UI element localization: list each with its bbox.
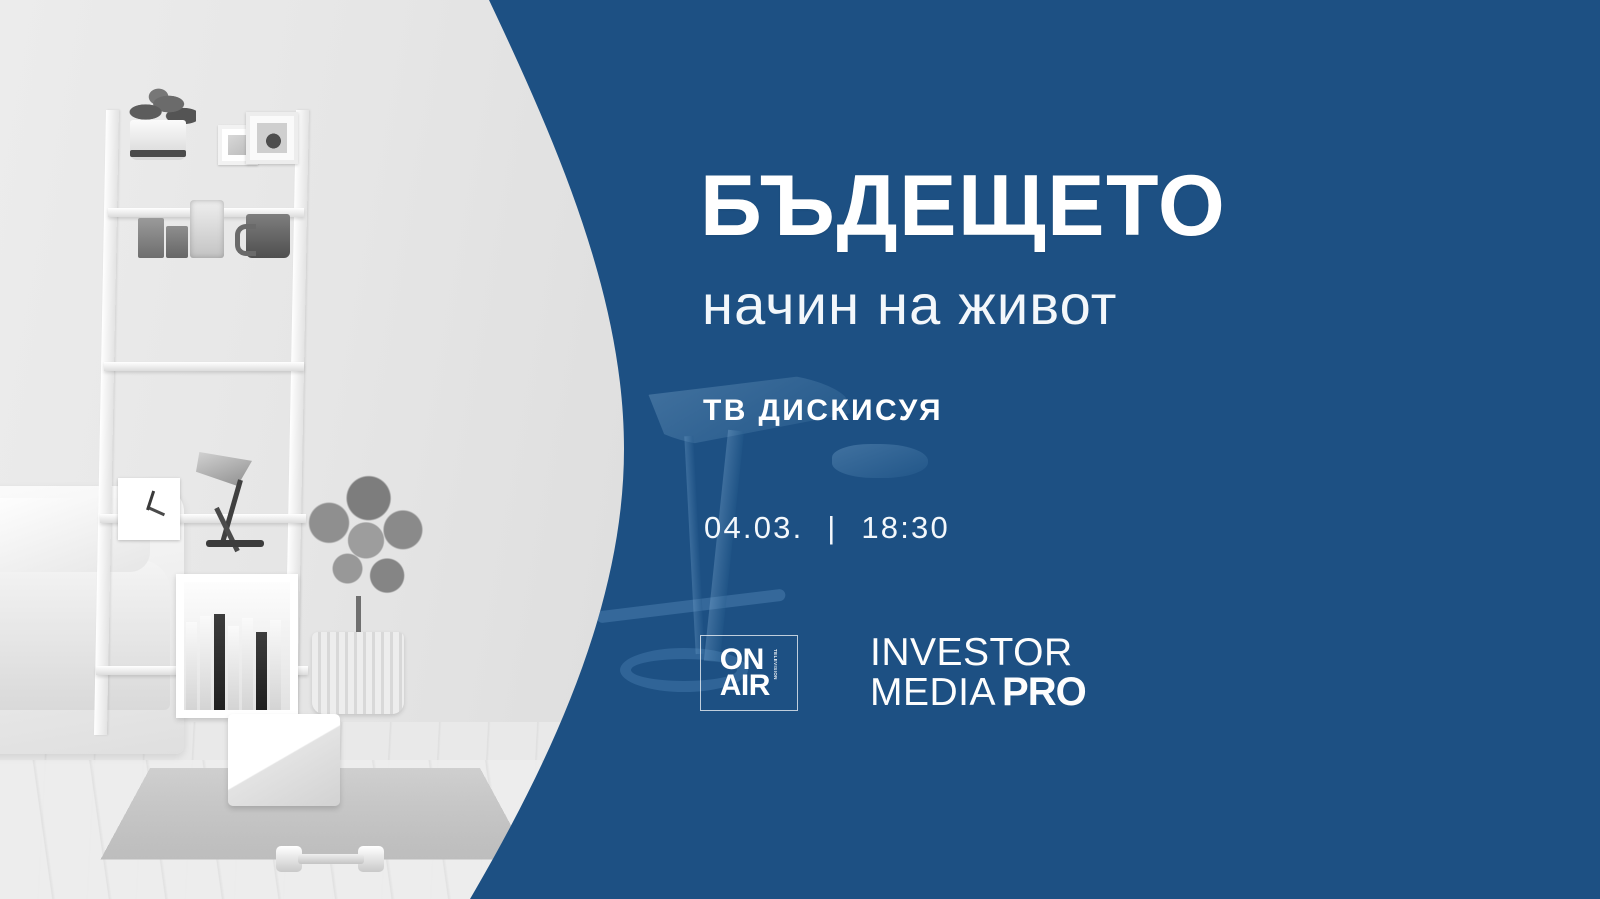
ottoman-cube [228,714,340,806]
date-value: 04.03. [704,510,803,545]
desk-lamp-base [206,540,264,547]
investor-media-pro-logo[interactable]: INVESTOR MEDIA PRO [870,633,1086,712]
on-air-wordmark: ON AIR [720,647,770,697]
subheadline: начин на живот [702,277,1118,333]
on-air-logo[interactable]: ON AIR TELEVISION [700,635,798,711]
media-pro-row: MEDIA PRO [870,672,1086,712]
datetime-line: 04.03. | 18:30 [704,512,950,543]
logo-row: ON AIR TELEVISION INVESTOR MEDIA PRO [700,633,1086,712]
potted-tree-foliage [300,470,432,646]
mug [246,214,290,258]
investor-word: INVESTOR [870,633,1086,672]
content-block: БЪДЕЩЕТО начин на живот ТВ ДИСКИСУЯ 04.0… [700,0,1600,899]
headline: БЪДЕЩЕТО [700,163,1226,249]
media-word: MEDIA [870,673,996,712]
pro-word: PRO [1002,672,1086,712]
promo-banner: БЪДЕЩЕТО начин на живот ТВ ДИСКИСУЯ 04.0… [0,0,1600,899]
time-value: 18:30 [861,510,950,545]
glass-jar [138,218,164,258]
wall-clock [118,478,180,540]
on-air-line-2: AIR [720,673,770,698]
program-type-label: ТВ ДИСКИСУЯ [703,396,943,426]
shelf-post-left [94,110,119,735]
shelf-board [104,362,304,371]
books [186,612,290,710]
pot-band [130,150,186,157]
picture-frame-large [246,112,298,164]
glass-jar [166,226,188,258]
glass-jar [190,200,224,258]
on-air-microtext: TELEVISION [773,647,778,697]
datetime-separator: | [814,512,850,543]
dumbbell-bar [298,854,364,864]
tree-basket [312,632,404,714]
